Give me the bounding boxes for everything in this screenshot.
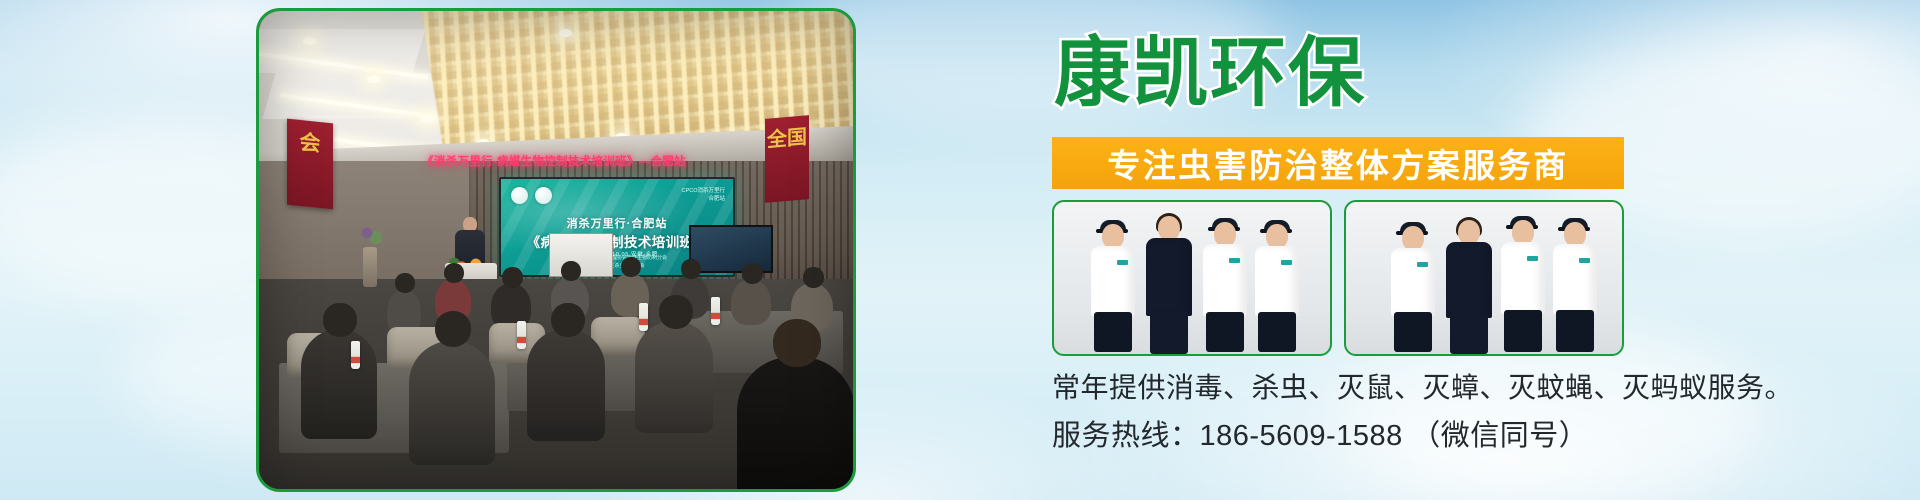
brand-title: 康凯环保 (1054, 36, 1366, 112)
conference-room-scene: 会 全国 《消杀万里行-病媒生物控制技术培训班》—合肥站 CPCO消杀万里行 合… (259, 11, 853, 489)
audience-head (742, 263, 763, 284)
member-torso (1501, 242, 1545, 314)
team-photo-arms-crossed (1344, 200, 1624, 356)
audience-head (659, 295, 693, 329)
audience-head (773, 319, 821, 367)
member-torso (1146, 238, 1192, 316)
audience-head (681, 259, 701, 279)
brand-content: 康凯环保 专注虫害防治整体方案服务商 (1048, 0, 1668, 500)
team-member (1550, 222, 1600, 352)
audience-head (435, 311, 471, 347)
audience-head (621, 257, 641, 277)
audience-member-foreground (527, 329, 605, 441)
organization-logo-icon (511, 187, 528, 204)
member-legs (1258, 312, 1296, 352)
conference-training-photo: 会 全国 《消杀万里行-病媒生物控制技术培训班》—合肥站 CPCO消杀万里行 合… (256, 8, 856, 492)
audience-head (395, 273, 415, 293)
audience-member-foreground (301, 329, 377, 439)
member-torso (1203, 244, 1247, 316)
audience-member-foreground (409, 341, 495, 465)
uniform-logo-icon (1229, 258, 1240, 263)
team-member (1388, 226, 1438, 352)
team-member (1498, 220, 1548, 352)
screen-corner-line1: CPCO消杀万里行 (682, 188, 725, 196)
audience-member (731, 279, 771, 325)
whiteboard (549, 233, 613, 277)
team-member (1200, 222, 1250, 352)
team-member (1088, 224, 1138, 352)
team-member (1442, 220, 1496, 354)
screen-logos (511, 187, 552, 204)
member-legs (1504, 310, 1542, 352)
screen-corner-line2: 合肥站 (682, 196, 725, 204)
member-torso (1446, 242, 1492, 318)
stage-banner-text: 《消杀万里行-病媒生物控制技术培训班》—合肥站 (319, 151, 789, 171)
member-torso (1091, 246, 1135, 316)
audience-member-foreground (737, 357, 853, 489)
audience-head (323, 303, 357, 337)
wall-sign-right-text: 全国 (765, 115, 809, 152)
uniform-logo-icon (1417, 262, 1428, 267)
member-torso (1553, 244, 1597, 314)
audience-head (561, 261, 581, 281)
hotline-text: 服务热线：186-5609-1588 （微信同号） (1052, 412, 1588, 454)
member-legs (1394, 312, 1432, 352)
audience-head (803, 267, 824, 288)
brand-subtitle-text: 专注虫害防治整体方案服务商 (1107, 139, 1569, 187)
member-legs (1556, 310, 1594, 352)
table-vase (363, 247, 377, 287)
downlight (559, 29, 572, 37)
uniform-logo-icon (1579, 258, 1590, 263)
downlight (421, 115, 434, 123)
promo-banner: 会 全国 《消杀万里行-病媒生物控制技术培训班》—合肥站 CPCO消杀万里行 合… (0, 0, 1920, 500)
uniform-logo-icon (1281, 260, 1292, 265)
audience-head (502, 267, 523, 288)
member-legs (1450, 314, 1488, 354)
member-legs (1206, 312, 1244, 352)
water-bottle (351, 341, 360, 369)
member-torso (1255, 246, 1299, 316)
member-legs (1094, 312, 1132, 352)
screen-corner-text: CPCO消杀万里行 合肥站 (682, 188, 725, 204)
services-description: 常年提供消毒、杀虫、灭鼠、灭蟑、灭蚊蝇、灭蚂蚁服务。 (1052, 366, 1793, 406)
water-bottle (711, 297, 720, 325)
uniform-logo-icon (1117, 260, 1128, 265)
member-torso (1391, 248, 1435, 316)
downlight (367, 75, 380, 83)
audience-head (444, 263, 464, 283)
audience-member-foreground (635, 321, 713, 433)
brand-subtitle-banner: 专注虫害防治整体方案服务商 (1052, 137, 1624, 189)
downlight (303, 37, 316, 45)
water-bottle (639, 303, 648, 331)
team-member (1252, 224, 1302, 352)
audience-head (551, 303, 585, 337)
team-member (1142, 216, 1196, 354)
uniform-logo-icon (1527, 256, 1538, 261)
team-photo-thumbs-up (1052, 200, 1332, 356)
member-legs (1150, 312, 1188, 354)
team-photos (1052, 200, 1624, 356)
water-bottle (517, 321, 526, 349)
organization-logo-icon (535, 187, 552, 204)
